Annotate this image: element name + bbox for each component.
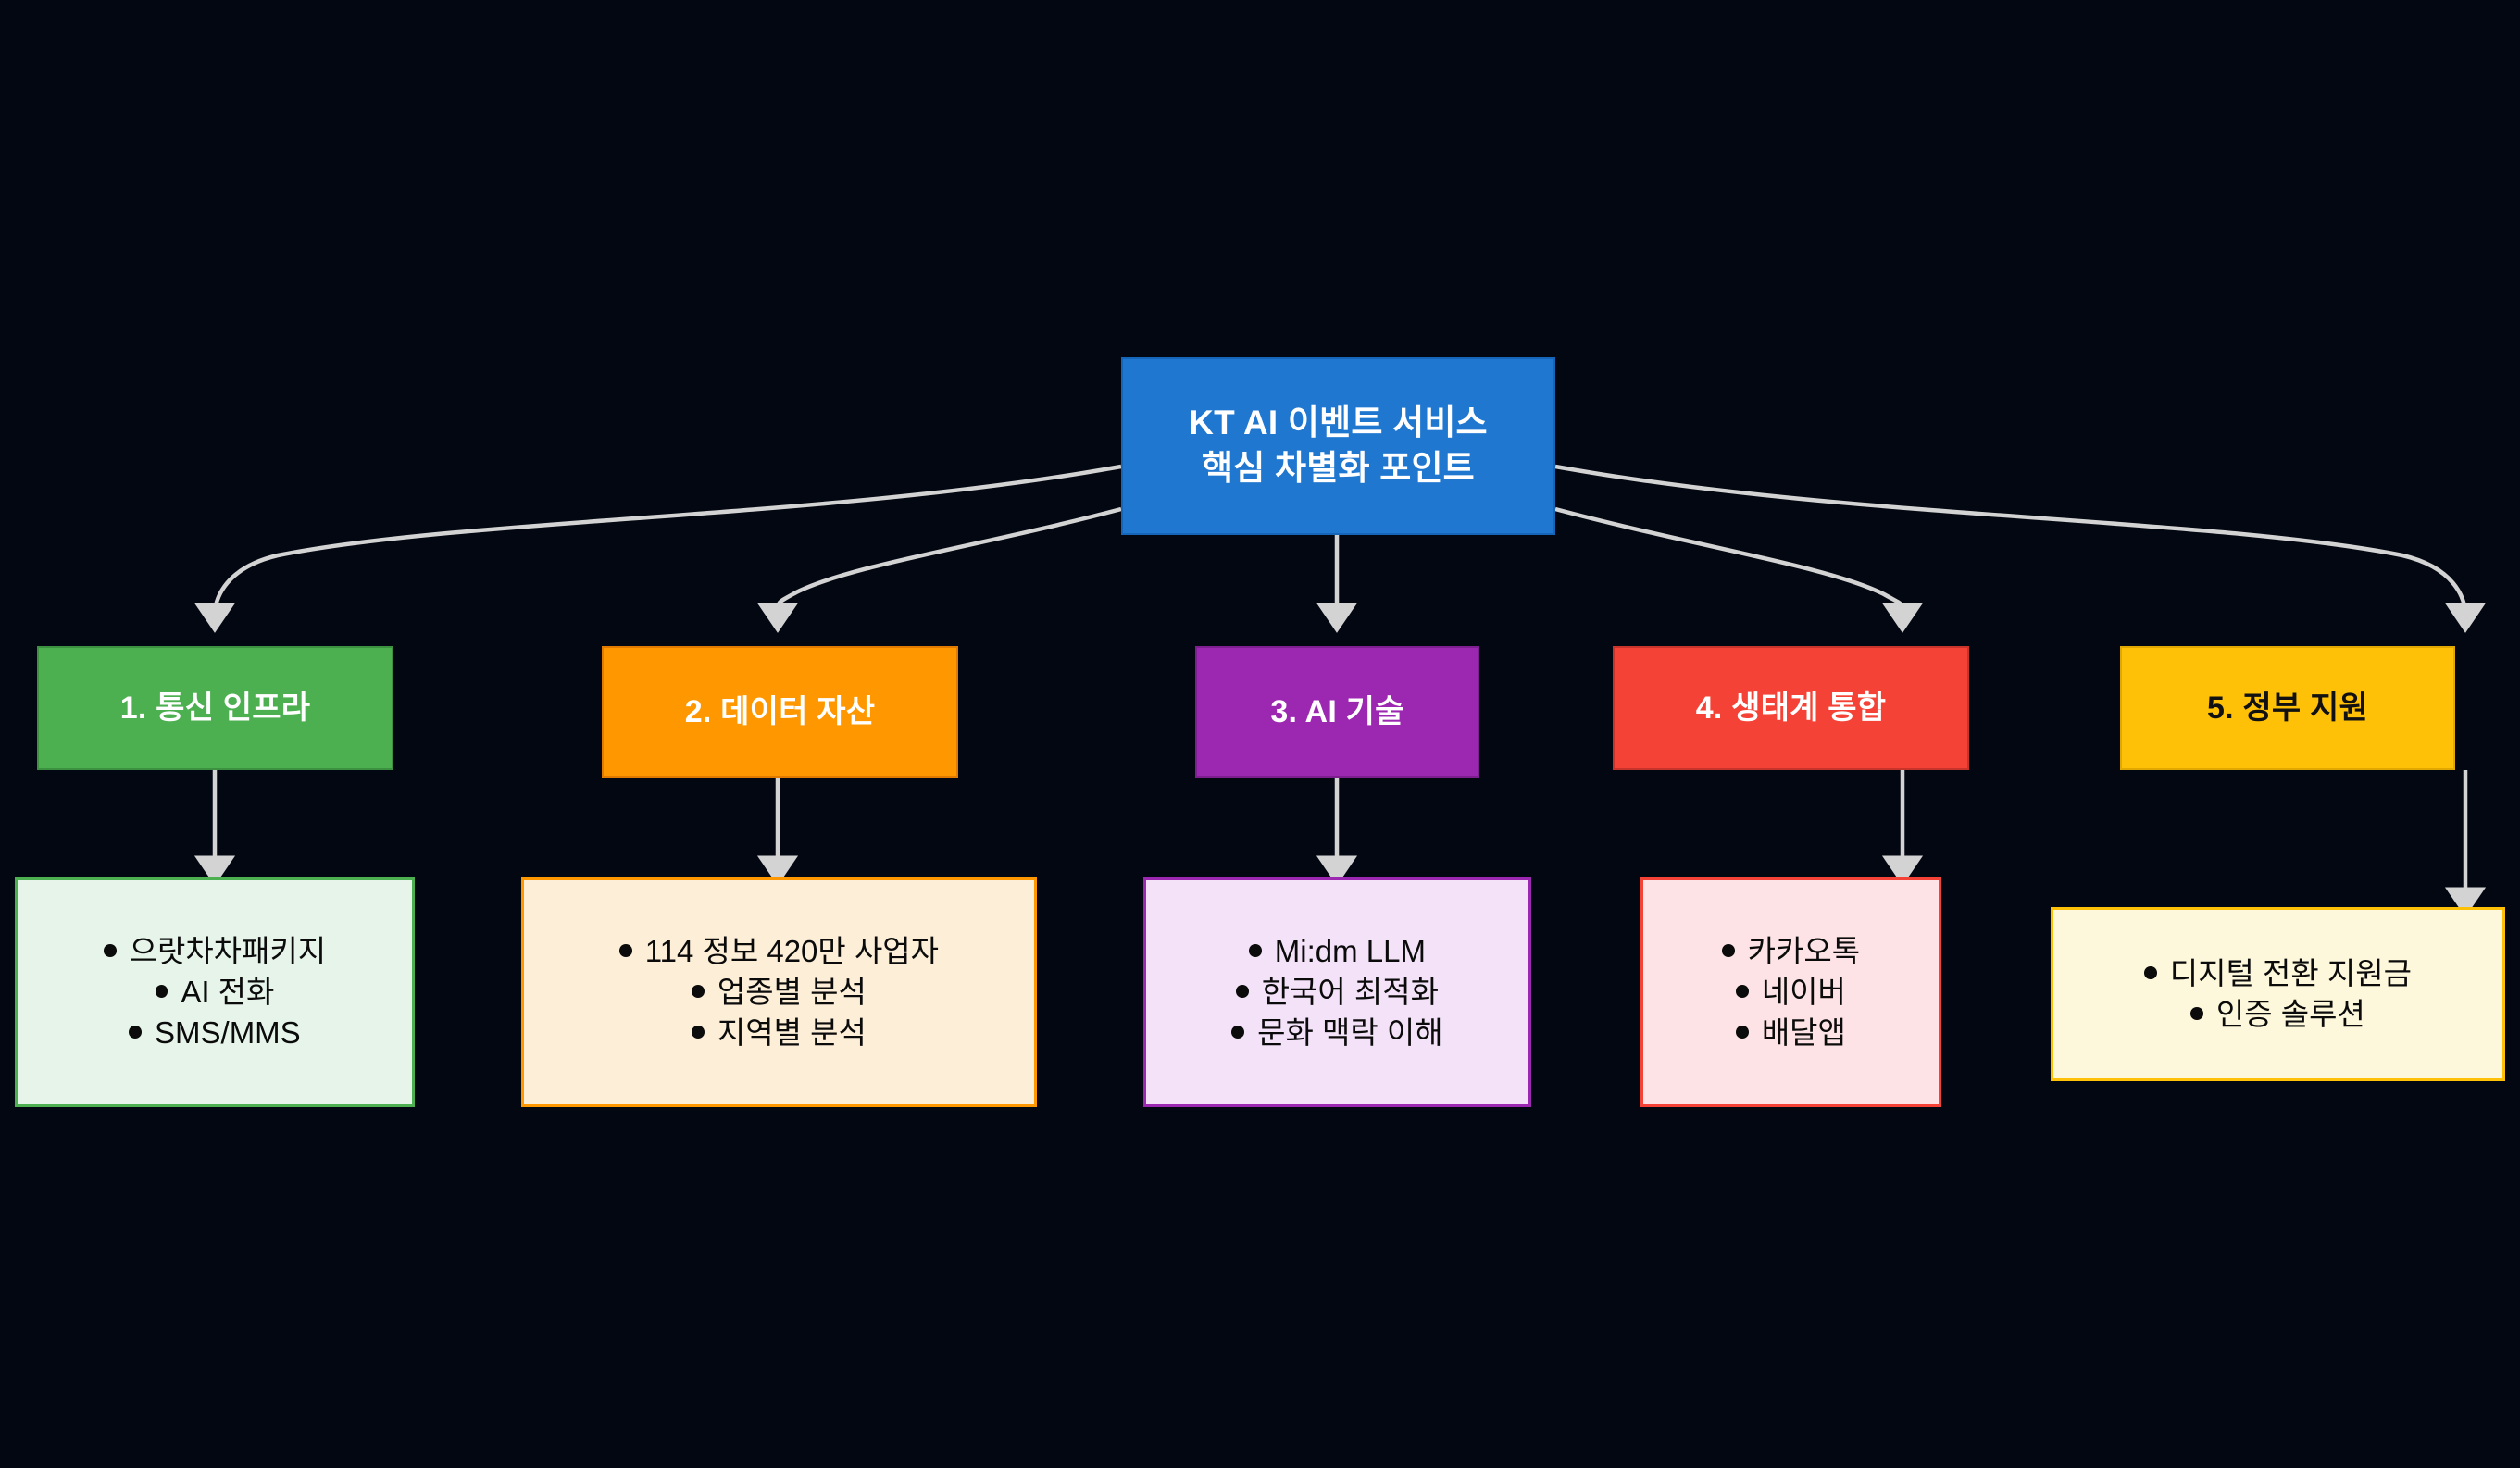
bullet-icon: [1736, 985, 1749, 998]
list-item: 카카오톡: [1643, 931, 1939, 972]
bullet-icon: [619, 944, 632, 957]
bullet-icon: [1236, 985, 1249, 998]
list-item: SMS/MMS: [18, 1013, 412, 1053]
bullet-icon: [692, 985, 705, 998]
diagram-canvas: KT AI 이벤트 서비스 핵심 차별화 포인트 1. 통신 인프라 2. 데이…: [0, 0, 2520, 1468]
list-item: 업종별 분석: [524, 972, 1034, 1013]
bullet-icon: [129, 1026, 142, 1039]
list-item: 인증 솔루션: [2053, 994, 2502, 1035]
detail-node-1[interactable]: 으랏차차패키지 AI 전화 SMS/MMS: [15, 877, 415, 1107]
list-item: 으랏차차패키지: [18, 931, 412, 972]
bullet-icon: [104, 944, 117, 957]
category-node-2[interactable]: 2. 데이터 자산: [602, 646, 958, 778]
list-item: 지역별 분석: [524, 1013, 1034, 1053]
list-item: AI 전화: [18, 972, 412, 1013]
detail-text: 디지털 전환 지원금: [2170, 956, 2412, 990]
detail-list-4: 카카오톡 네이버 배달앱: [1643, 931, 1939, 1053]
category-node-5-label: 5. 정부 지원: [2207, 688, 2368, 729]
detail-text: 문화 맥락 이해: [1257, 1015, 1443, 1050]
root-node[interactable]: KT AI 이벤트 서비스 핵심 차별화 포인트: [1121, 357, 1555, 535]
detail-list-3: Mi:dm LLM 한국어 최적화 문화 맥락 이해: [1146, 931, 1528, 1053]
category-node-4[interactable]: 4. 생태계 통합: [1613, 646, 1969, 770]
list-item: 문화 맥락 이해: [1146, 1013, 1528, 1053]
bullet-icon: [692, 1026, 705, 1039]
bullet-icon: [2190, 1007, 2203, 1020]
bullet-icon: [2144, 966, 2157, 979]
detail-list-5: 디지털 전환 지원금 인증 솔루션: [2053, 953, 2502, 1035]
edge-root-to-branch-4: [1555, 509, 1902, 616]
detail-text: 한국어 최적화: [1262, 975, 1439, 1009]
list-item: 네이버: [1643, 972, 1939, 1013]
detail-text: 114 정보 420만 사업자: [645, 934, 939, 968]
bullet-icon: [1722, 944, 1735, 957]
root-node-label-line1: KT AI 이벤트 서비스: [1189, 404, 1488, 442]
edge-root-to-branch-5: [1555, 467, 2465, 616]
detail-text: 지역별 분석: [717, 1015, 867, 1050]
detail-text: 네이버: [1762, 975, 1846, 1009]
detail-text: AI 전화: [181, 975, 274, 1009]
list-item: Mi:dm LLM: [1146, 931, 1528, 972]
bullet-icon: [1249, 944, 1262, 957]
category-node-4-label: 4. 생태계 통합: [1696, 688, 1886, 729]
root-node-label-line2: 핵심 차별화 포인트: [1202, 449, 1475, 487]
category-node-5[interactable]: 5. 정부 지원: [2120, 646, 2455, 770]
detail-text: 인증 솔루션: [2216, 997, 2365, 1031]
bullet-icon: [156, 985, 168, 998]
detail-node-3[interactable]: Mi:dm LLM 한국어 최적화 문화 맥락 이해: [1143, 877, 1531, 1107]
detail-node-2[interactable]: 114 정보 420만 사업자 업종별 분석 지역별 분석: [521, 877, 1037, 1107]
detail-list-1: 으랏차차패키지 AI 전화 SMS/MMS: [18, 931, 412, 1053]
list-item: 디지털 전환 지원금: [2053, 953, 2502, 994]
detail-text: 카카오톡: [1748, 934, 1860, 968]
category-node-2-label: 2. 데이터 자산: [685, 691, 875, 733]
bullet-icon: [1231, 1026, 1244, 1039]
detail-text: SMS/MMS: [155, 1015, 301, 1050]
detail-node-4[interactable]: 카카오톡 네이버 배달앱: [1640, 877, 1941, 1107]
detail-node-5[interactable]: 디지털 전환 지원금 인증 솔루션: [2051, 907, 2505, 1081]
edge-root-to-branch-2: [778, 509, 1121, 616]
detail-list-2: 114 정보 420만 사업자 업종별 분석 지역별 분석: [524, 931, 1034, 1053]
list-item: 배달앱: [1643, 1013, 1939, 1053]
edge-root-to-branch-1: [215, 467, 1121, 616]
category-node-3[interactable]: 3. AI 기술: [1195, 646, 1479, 778]
detail-text: 으랏차차패키지: [130, 934, 327, 968]
detail-text: 업종별 분석: [717, 975, 867, 1009]
category-node-1-label: 1. 통신 인프라: [120, 688, 310, 729]
bullet-icon: [1736, 1026, 1749, 1039]
list-item: 114 정보 420만 사업자: [524, 931, 1034, 972]
list-item: 한국어 최적화: [1146, 972, 1528, 1013]
detail-text: Mi:dm LLM: [1275, 934, 1426, 968]
detail-text: 배달앱: [1762, 1015, 1846, 1050]
category-node-1[interactable]: 1. 통신 인프라: [37, 646, 393, 770]
category-node-3-label: 3. AI 기술: [1270, 691, 1403, 733]
